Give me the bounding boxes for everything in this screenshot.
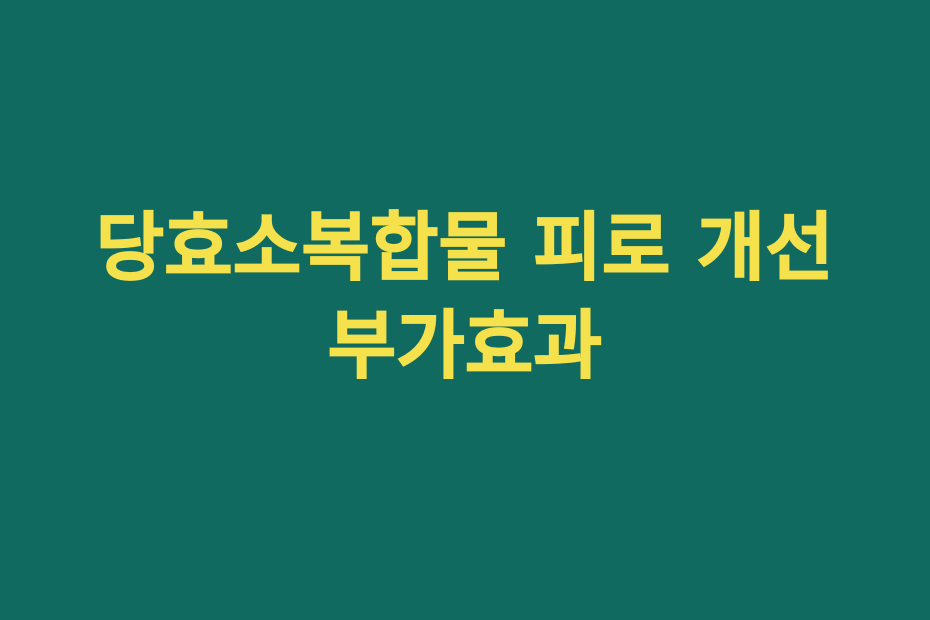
title-line-2: 부가효과	[0, 298, 930, 396]
title-slide: 당효소복합물 피로 개선 부가효과	[0, 0, 930, 620]
title-block: 당효소복합물 피로 개선 부가효과	[0, 200, 930, 395]
title-line-1: 당효소복합물 피로 개선	[0, 200, 930, 298]
